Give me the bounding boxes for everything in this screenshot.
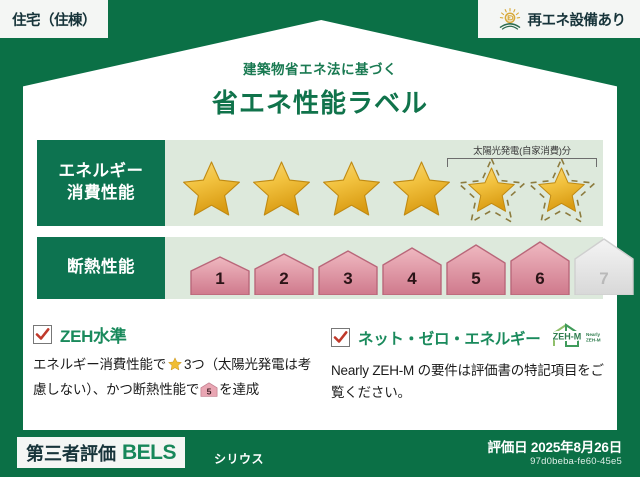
insulation-performance-row: 断熱性能 1	[37, 237, 603, 299]
renewable-equipment-label: 再エネ設備あり	[528, 9, 626, 30]
insulation-level-number: 7	[573, 269, 635, 289]
star-icon	[387, 154, 456, 224]
title-subtitle: 建築物省エネ法に基づく	[0, 58, 640, 78]
insulation-level-house: 6	[509, 240, 571, 295]
svg-text:ZEH-M: ZEH-M	[586, 338, 601, 343]
title-main: 省エネ性能ラベル	[0, 83, 640, 120]
footer: 第三者評価 BELS シリウス 評価日 2025年8月26日 97d0beba-…	[0, 430, 640, 477]
insulation-scale: 1 2 3	[165, 237, 603, 295]
energy-performance-body: 太陽光発電(自家消費)分	[165, 140, 603, 226]
insulation-level-number: 6	[509, 269, 571, 289]
energy-performance-label: エネルギー 消費性能	[37, 140, 165, 226]
star-icon	[247, 154, 316, 224]
zehm-checkbox[interactable]	[331, 328, 350, 347]
solar-sun-icon	[497, 6, 523, 32]
insulation-level-number: 4	[381, 269, 443, 289]
insulation-level-house-inactive: 7	[573, 237, 635, 295]
bels-en-label: BELS	[122, 441, 176, 465]
bels-jp-label: 第三者評価	[26, 440, 116, 466]
star-icon	[167, 360, 183, 375]
zehm-block: ネット・ゼロ・エネルギー ZEH-M Nearly ZEH-M Nearly Z…	[331, 322, 611, 404]
zeh-body-post: を達成	[219, 382, 259, 397]
svg-text:5: 5	[207, 387, 212, 397]
insulation-level-number: 3	[317, 269, 379, 289]
star-icon	[317, 154, 386, 224]
renewable-equipment-tag: 再エネ設備あり	[478, 0, 640, 38]
zehm-body: Nearly ZEH-M の要件は評価書の特記項目をご覧ください。	[331, 360, 611, 404]
zehm-title: ネット・ゼロ・エネルギー	[358, 327, 540, 349]
house-badge-icon: 5	[200, 385, 218, 400]
insulation-level-number: 5	[445, 269, 507, 289]
energy-label-line1: エネルギー	[59, 161, 144, 183]
zeh-checkbox[interactable]	[33, 325, 52, 344]
bels-badge: 第三者評価 BELS	[17, 437, 185, 468]
evaluation-id: 97d0beba-fe60-45e5	[530, 456, 622, 467]
title-block: 建築物省エネ法に基づく 省エネ性能ラベル	[0, 58, 640, 120]
energy-performance-row: エネルギー 消費性能 太陽光発電(自家消費)分	[37, 140, 603, 226]
building-type-tag: 住宅（住棟）	[0, 0, 108, 38]
insulation-label-text: 断熱性能	[67, 257, 135, 279]
svg-text:Nearly: Nearly	[586, 332, 600, 337]
zeh-standard-title: ZEH水準	[60, 322, 127, 347]
insulation-level-number: 1	[189, 269, 251, 289]
insulation-level-house: 5	[445, 243, 507, 295]
zeh-body-pre: エネルギー消費性能で	[33, 357, 166, 372]
star-icon	[177, 154, 246, 224]
rating-rows: エネルギー 消費性能 太陽光発電(自家消費)分	[37, 140, 603, 299]
zeh-m-logo-icon: ZEH-M Nearly ZEH-M	[550, 322, 614, 353]
insulation-performance-label: 断熱性能	[37, 237, 165, 299]
svg-text:ZEH-M: ZEH-M	[553, 332, 582, 342]
bels-brand-name: シリウス	[214, 450, 264, 467]
building-type-label: 住宅（住棟）	[12, 9, 96, 30]
insulation-performance-body: 1 2 3	[165, 237, 603, 299]
certification-info: ZEH水準 エネルギー消費性能で3つ（太陽光発電は考慮しない）、かつ断熱性能で5…	[33, 322, 611, 404]
evaluation-date: 評価日 2025年8月26日	[487, 436, 622, 456]
star-rating	[165, 154, 603, 224]
zeh-standard-block: ZEH水準 エネルギー消費性能で3つ（太陽光発電は考慮しない）、かつ断熱性能で5…	[33, 322, 313, 404]
insulation-level-house: 2	[253, 252, 315, 295]
insulation-level-house: 3	[317, 249, 379, 295]
zeh-standard-header: ZEH水準	[33, 322, 313, 347]
zehm-header: ネット・ゼロ・エネルギー ZEH-M Nearly ZEH-M	[331, 322, 611, 353]
star-icon-solar	[457, 154, 526, 224]
insulation-level-number: 2	[253, 269, 315, 289]
energy-label-line2: 消費性能	[67, 183, 135, 205]
energy-label-root: 住宅（住棟） 再エネ設備あり 建築物省エ	[0, 0, 640, 477]
insulation-level-house: 4	[381, 246, 443, 295]
zeh-standard-body: エネルギー消費性能で3つ（太陽光発電は考慮しない）、かつ断熱性能で5を達成	[33, 354, 313, 404]
insulation-level-house: 1	[189, 255, 251, 295]
star-icon-solar	[527, 154, 596, 224]
